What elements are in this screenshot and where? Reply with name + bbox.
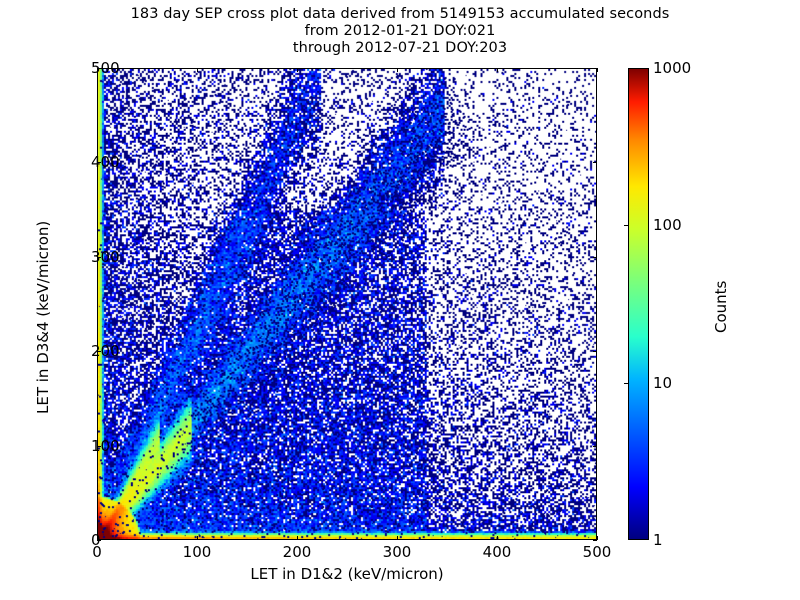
title-line-2: from 2012-01-21 DOY:021 [0,23,800,40]
y-axis-label: LET in D3&4 (keV/micron) [34,221,52,414]
scatter-density-plot [98,69,596,539]
figure-canvas: 183 day SEP cross plot data derived from… [0,0,800,600]
x-tick-mark [497,536,498,540]
y-tick-mark-right [593,68,597,69]
title-line-1: 183 day SEP cross plot data derived from… [0,6,800,23]
colorbar-tick-mark [624,383,629,384]
plot-area [97,68,597,540]
colorbar-tick-label: 100 [653,216,682,234]
colorbar-tick-label: 10 [653,374,672,392]
x-tick-mark-top [597,68,598,72]
y-tick-mark-right [593,162,597,163]
x-tick-mark-top [197,68,198,72]
x-tick-mark-top [297,68,298,72]
colorbar-label: Counts [712,281,730,333]
y-tick-mark-right [593,540,597,541]
x-tick-mark [197,536,198,540]
x-tick-label: 300 [383,543,412,561]
x-tick-label: 100 [183,543,212,561]
title-line-3: through 2012-07-21 DOY:203 [0,40,800,57]
colorbar [628,68,649,540]
y-tick-mark-right [593,257,597,258]
x-tick-label: 500 [583,543,612,561]
x-tick-mark-top [397,68,398,72]
x-tick-label: 400 [483,543,512,561]
x-axis-label: LET in D1&2 (keV/micron) [97,565,597,583]
x-tick-label: 200 [283,543,312,561]
colorbar-gradient [629,69,648,539]
colorbar-tick-label: 1000 [653,59,691,77]
y-tick-mark-right [593,446,597,447]
x-tick-mark-top [497,68,498,72]
x-tick-mark [597,536,598,540]
x-tick-mark [397,536,398,540]
colorbar-tick-mark [624,225,629,226]
x-tick-mark [297,536,298,540]
chart-title: 183 day SEP cross plot data derived from… [0,6,800,57]
colorbar-tick-label: 1 [653,531,663,549]
y-tick-mark-right [593,351,597,352]
